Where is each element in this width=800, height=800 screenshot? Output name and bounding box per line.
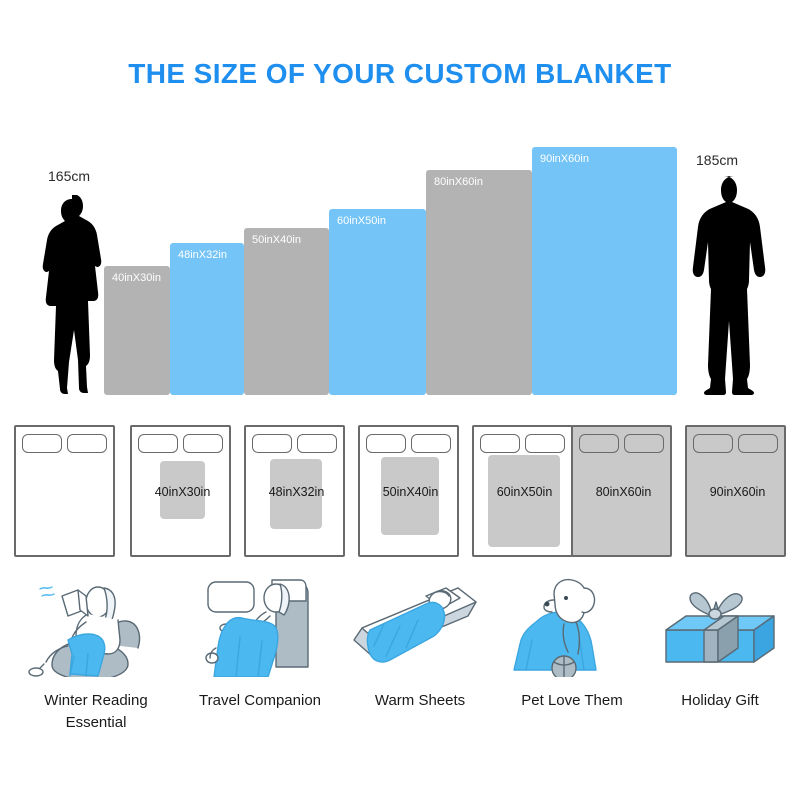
blanket-size-bar-chart: 165cm 40inX30in 48inX32in 50inX40in 60in… [0, 120, 800, 395]
pillow-icon [480, 434, 520, 453]
bar-50inX40in: 50inX40in [244, 228, 329, 395]
bar-label: 40inX30in [112, 272, 161, 284]
pillow-icon [297, 434, 337, 453]
usage-label: Travel Companion [180, 690, 340, 712]
gift-box-icon [640, 572, 800, 677]
bed-diagram-empty [14, 425, 115, 557]
bed-diagram-40inX30in: 40inX30in [130, 425, 231, 557]
bar-40inX30in: 40inX30in [104, 266, 170, 395]
bed-size-label: 90inX60in [687, 485, 788, 499]
pillow-icon [366, 434, 406, 453]
dog-with-blanket-icon [492, 572, 652, 677]
usage-holiday-gift: Holiday Gift [640, 572, 800, 712]
bar-label: 90inX60in [540, 153, 589, 165]
person-sleeping-bed-icon [340, 572, 500, 677]
pillow-icon [183, 434, 223, 453]
pillow-icon [411, 434, 451, 453]
usage-winter-reading: Winter Reading Essential [16, 572, 176, 734]
pillow-icon [738, 434, 778, 453]
usage-travel-companion: Travel Companion [180, 572, 340, 712]
pillow-icon [525, 434, 565, 453]
bed-size-label: 80inX60in [573, 485, 674, 499]
airplane-seat-passenger-icon [180, 572, 340, 677]
bed-size-label: 50inX40in [360, 485, 461, 499]
bed-diagram-50inX40in: 50inX40in [358, 425, 459, 557]
pillow-icon [624, 434, 664, 453]
bar-label: 50inX40in [252, 234, 301, 246]
man-silhouette [692, 173, 776, 395]
bed-size-label: 60inX50in [474, 485, 575, 499]
man-height-label: 185cm [696, 152, 738, 168]
bar-label: 48inX32in [178, 249, 227, 261]
usage-pet-love-them: Pet Love Them [492, 572, 652, 712]
bar-80inX60in: 80inX60in [426, 170, 532, 395]
bar-48inX32in: 48inX32in [170, 243, 244, 395]
woman-height-label: 165cm [48, 168, 90, 184]
pillow-icon [138, 434, 178, 453]
pillow-icon [22, 434, 62, 453]
bed-diagram-80inX60in: 80inX60in [571, 425, 672, 557]
woman-silhouette [36, 195, 108, 395]
page-title: THE SIZE OF YOUR CUSTOM BLANKET [0, 58, 800, 90]
pillow-icon [67, 434, 107, 453]
person-reading-beanbag-icon [16, 572, 176, 677]
bed-diagram-60inX50in: 60inX50in [472, 425, 573, 557]
usage-label: Holiday Gift [640, 690, 800, 712]
bar-90inX60in: 90inX60in [532, 147, 677, 395]
bar-60inX50in: 60inX50in [329, 209, 426, 395]
usage-label: Winter Reading Essential [16, 690, 176, 734]
usage-label: Warm Sheets [340, 690, 500, 712]
bed-diagram-48inX32in: 48inX32in [244, 425, 345, 557]
usage-scenarios-row: Winter Reading Essential [0, 572, 800, 752]
bed-size-label: 48inX32in [246, 485, 347, 499]
bed-diagram-90inX60in: 90inX60in [685, 425, 786, 557]
bed-comparison-row: 40inX30in 48inX32in 50inX40in 60inX50in … [0, 425, 800, 565]
usage-warm-sheets: Warm Sheets [340, 572, 500, 712]
bar-label: 60inX50in [337, 215, 386, 227]
pillow-icon [252, 434, 292, 453]
blanket-overlay [488, 455, 560, 547]
usage-label: Pet Love Them [492, 690, 652, 712]
bar-label: 80inX60in [434, 176, 483, 188]
pillow-icon [579, 434, 619, 453]
pillow-icon [693, 434, 733, 453]
bed-size-label: 40inX30in [132, 485, 233, 499]
